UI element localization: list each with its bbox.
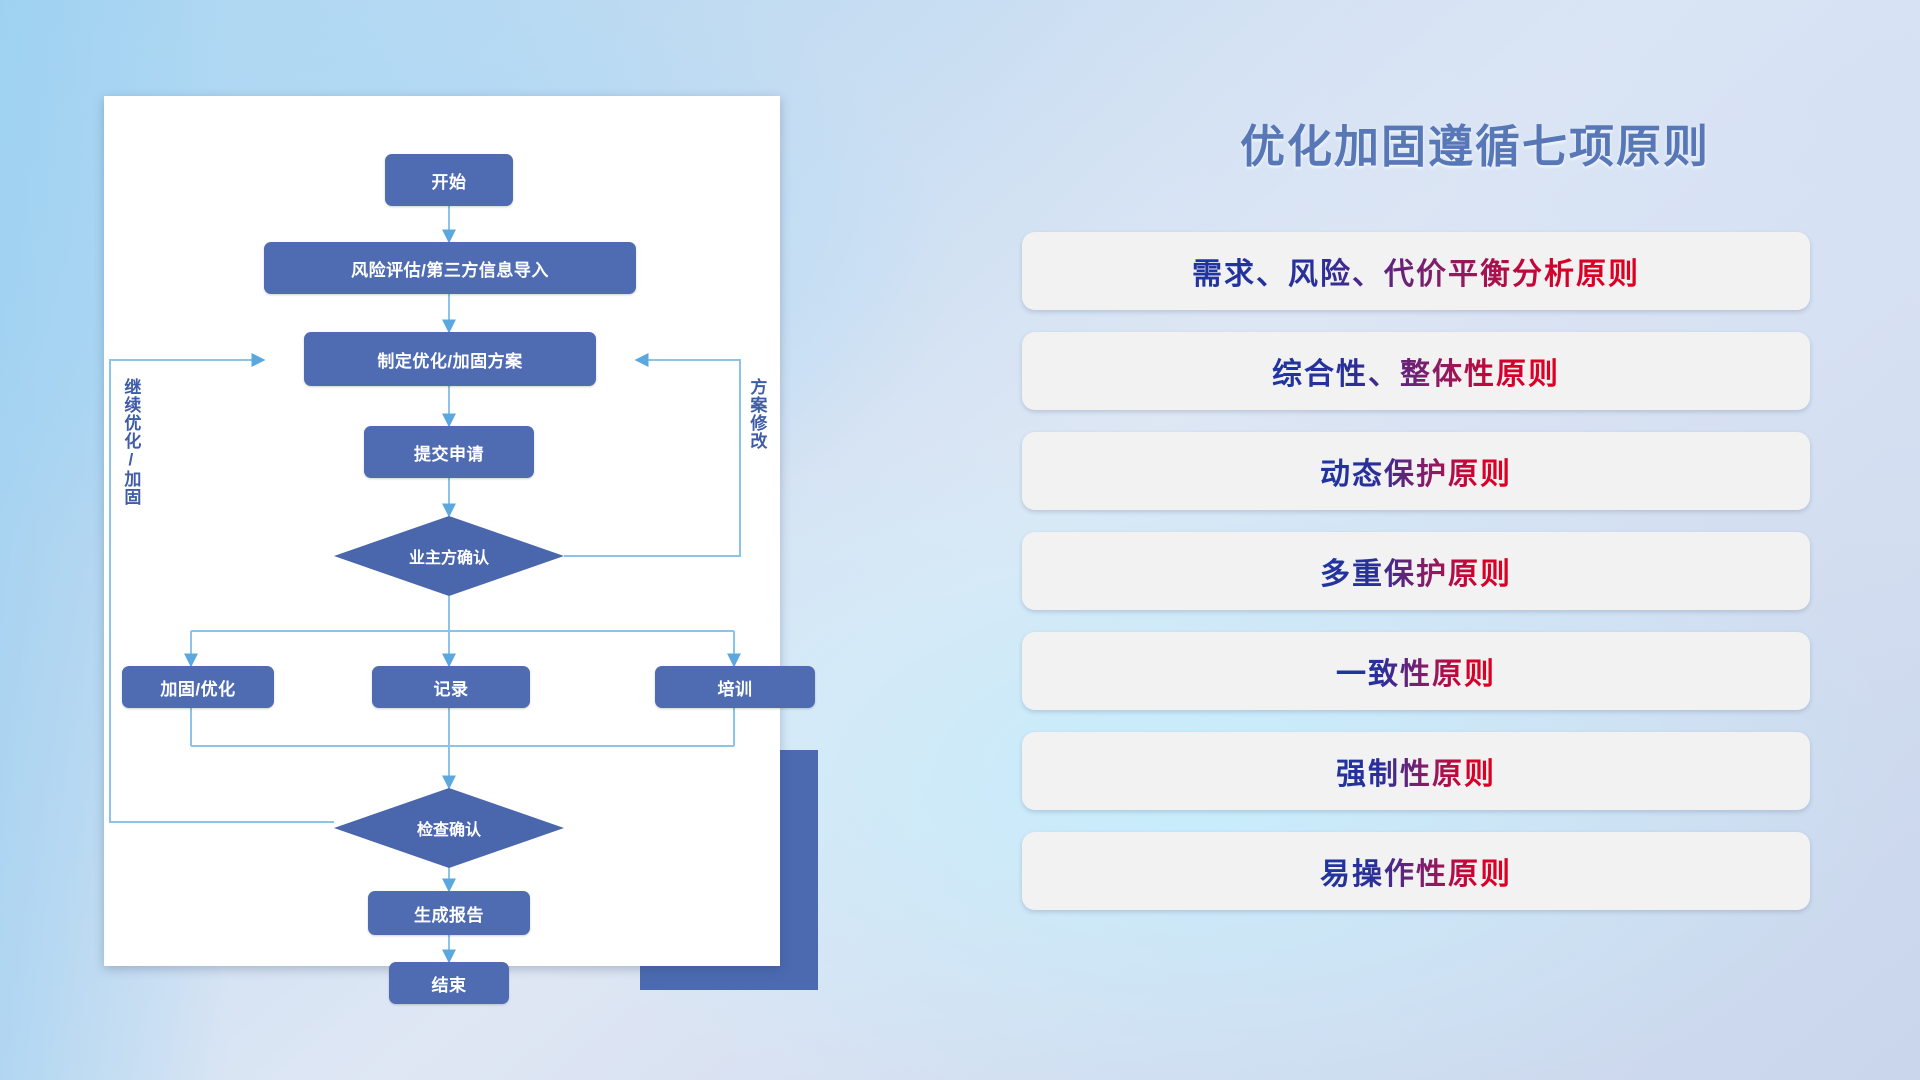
flow-node-check-confirm[interactable]: 检查确认 [334, 788, 564, 868]
flow-node-label: 制定优化/加固方案 [377, 347, 522, 372]
flow-node-owner-confirm[interactable]: 业主方确认 [334, 516, 564, 596]
flow-node-label: 结束 [432, 971, 467, 996]
principle-list: 需求、风险、代价平衡分析原则 综合性、整体性原则 动态保护原则 多重保护原则 一… [1022, 232, 1810, 932]
principle-label: 强制性原则 [1336, 749, 1496, 793]
principle-label: 需求、风险、代价平衡分析原则 [1192, 249, 1640, 293]
flow-node-generate-report[interactable]: 生成报告 [368, 891, 530, 935]
principle-label: 综合性、整体性原则 [1272, 349, 1560, 393]
flow-node-label: 加固/优化 [160, 675, 235, 700]
principle-item[interactable]: 强制性原则 [1022, 732, 1810, 810]
principle-item[interactable]: 综合性、整体性原则 [1022, 332, 1810, 410]
edge-label-plan-revision: 方案修改 [748, 378, 765, 450]
flow-node-label: 培训 [718, 675, 753, 700]
flow-node-label: 记录 [434, 675, 469, 700]
flow-node-label: 提交申请 [414, 440, 484, 465]
flow-node-start[interactable]: 开始 [385, 154, 513, 206]
principle-label: 一致性原则 [1336, 649, 1496, 693]
principle-label: 易操作性原则 [1320, 849, 1512, 893]
flow-node-label: 开始 [432, 168, 467, 193]
flow-node-risk-assessment[interactable]: 风险评估/第三方信息导入 [264, 242, 636, 294]
flow-node-reinforce[interactable]: 加固/优化 [122, 666, 274, 708]
principle-label: 动态保护原则 [1320, 449, 1512, 493]
principle-item[interactable]: 易操作性原则 [1022, 832, 1810, 910]
flow-node-plan[interactable]: 制定优化/加固方案 [304, 332, 596, 386]
flow-node-label: 业主方确认 [409, 544, 489, 568]
principle-label: 多重保护原则 [1320, 549, 1512, 593]
principle-item[interactable]: 多重保护原则 [1022, 532, 1810, 610]
principle-item[interactable]: 一致性原则 [1022, 632, 1810, 710]
flowchart-card: 开始 风险评估/第三方信息导入 制定优化/加固方案 提交申请 业主方确认 加固/… [104, 96, 780, 966]
flow-node-label: 风险评估/第三方信息导入 [351, 256, 549, 281]
panel-title: 优化加固遵循七项原则 [1155, 110, 1795, 175]
flow-node-record[interactable]: 记录 [372, 666, 530, 708]
principle-item[interactable]: 动态保护原则 [1022, 432, 1810, 510]
flow-node-training[interactable]: 培训 [655, 666, 815, 708]
principle-item[interactable]: 需求、风险、代价平衡分析原则 [1022, 232, 1810, 310]
flow-node-label: 生成报告 [414, 901, 484, 926]
edge-label-continue-optimize: 继续优化/加固 [122, 378, 139, 506]
flow-node-label: 检查确认 [417, 816, 481, 840]
flow-node-submit-application[interactable]: 提交申请 [364, 426, 534, 478]
flow-node-end[interactable]: 结束 [389, 962, 509, 1004]
